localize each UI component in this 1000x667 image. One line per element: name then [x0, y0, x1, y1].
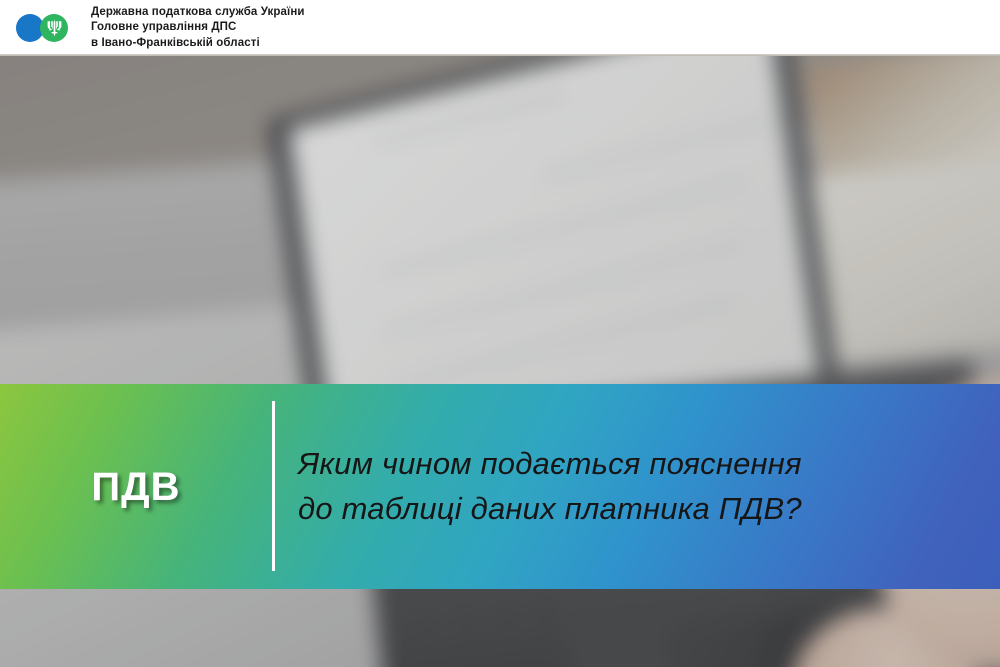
- ukraine-trident-icon: [40, 14, 68, 42]
- banner-question-line-2: до таблиці даних платника ПДВ?: [298, 487, 960, 531]
- page-root: Державна податкова служба України Головн…: [0, 0, 1000, 667]
- agency-title-line-1: Державна податкова служба України: [91, 5, 305, 20]
- agency-title-line-3: в Івано-Франківській області: [91, 36, 305, 51]
- site-header: Державна податкова служба України Головн…: [0, 0, 1000, 56]
- topic-tag: ПДВ: [0, 384, 272, 589]
- banner-vertical-divider: [272, 401, 275, 571]
- header-divider: [0, 54, 1000, 56]
- topic-tag-label: ПДВ: [91, 467, 180, 507]
- agency-logo[interactable]: [16, 13, 78, 43]
- banner-question-line-1: Яким чином подається пояснення: [298, 442, 960, 486]
- banner-question: Яким чином подається пояснення до таблиц…: [298, 384, 960, 589]
- topic-banner: ПДВ Яким чином подається пояснення до та…: [0, 384, 1000, 589]
- agency-title: Державна податкова служба України Головн…: [91, 5, 305, 51]
- agency-title-line-2: Головне управління ДПС: [91, 20, 305, 35]
